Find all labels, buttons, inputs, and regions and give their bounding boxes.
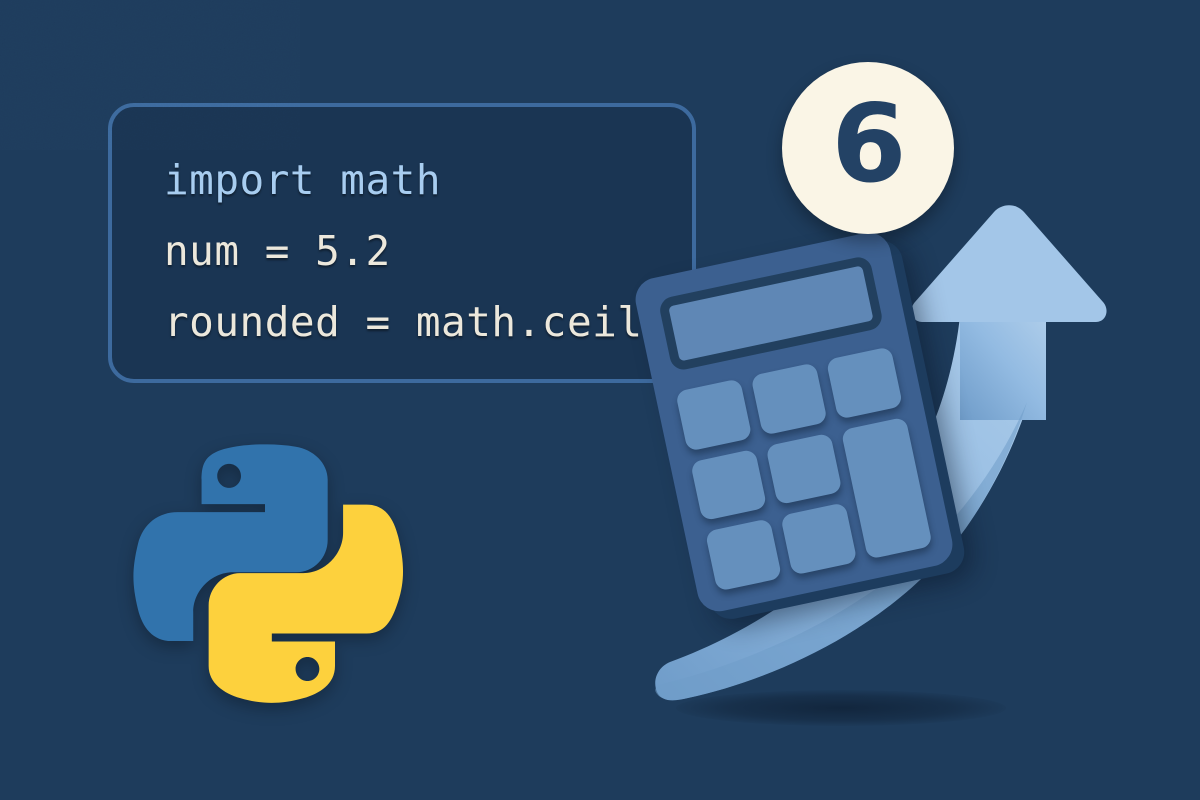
illustration-canvas: import math num = 5.2 rounded = math.cei… [0, 0, 1200, 800]
calculator-key[interactable] [826, 346, 903, 419]
arrow-head [911, 205, 1106, 322]
result-badge: 6 [782, 62, 954, 234]
calculator-key[interactable] [690, 448, 767, 521]
calculator-key[interactable] [780, 503, 857, 576]
code-card: import math num = 5.2 rounded = math.cei… [108, 103, 696, 383]
calculator-key[interactable] [675, 378, 752, 451]
result-badge-value: 6 [831, 91, 906, 199]
calculator-key[interactable] [750, 362, 827, 435]
code-lines: import math num = 5.2 rounded = math.cei… [164, 145, 696, 358]
calculator-keypad [675, 346, 933, 591]
calculator-key[interactable] [765, 432, 842, 505]
arrow-shaft [960, 316, 1046, 420]
code-line-import: import math [164, 145, 696, 216]
python-logo-icon [126, 428, 404, 706]
calculator-key[interactable] [705, 519, 782, 592]
code-line-num-assignment: num = 5.2 [164, 216, 696, 287]
code-line-rounded-assignment: rounded = math.ceil( [164, 287, 696, 358]
calculator-key-tall[interactable] [841, 416, 933, 559]
